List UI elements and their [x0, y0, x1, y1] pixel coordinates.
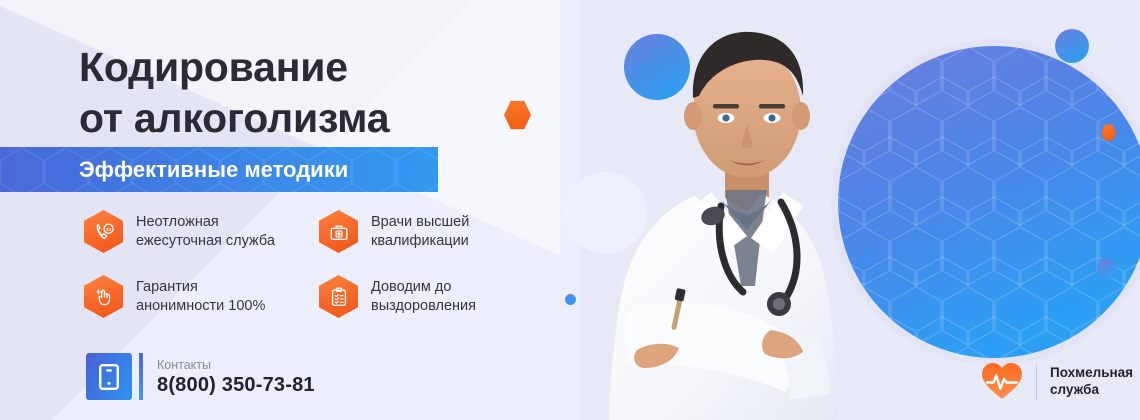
subtitle-badge-text: Эффективные методики: [79, 147, 348, 192]
contacts-block[interactable]: Контакты 8(800) 350-73-81: [86, 353, 315, 400]
big-blue-circle-decoration: [838, 46, 1140, 358]
feature-item-emergency-service: 24 Неотложная ежесуточная служба: [84, 210, 319, 253]
heart-pulse-icon: [981, 362, 1023, 400]
logo-line-2: служба: [1050, 382, 1099, 397]
clipboard-check-icon: [319, 275, 358, 318]
feature-line-2: анонимности 100%: [136, 298, 265, 314]
phone-24-icon: 24: [84, 210, 123, 253]
svg-text:24: 24: [105, 226, 111, 232]
contacts-divider: [139, 353, 143, 400]
feature-item-recovery: Доводим до выздоровления: [319, 275, 554, 318]
contacts-text: Контакты 8(800) 350-73-81: [157, 357, 315, 397]
hand-silence-icon: [84, 275, 123, 318]
features-row-1: 24 Неотложная ежесуточная служба: [84, 210, 554, 275]
feature-line-2: ежесуточная служба: [136, 233, 275, 249]
feature-line-1: Гарантия: [136, 279, 198, 295]
blue-circle-decoration-3: [1097, 258, 1117, 278]
feature-line-2: квалификации: [371, 233, 469, 249]
title-line-1: Кодирование: [79, 44, 348, 90]
features-list: 24 Неотложная ежесуточная служба: [84, 210, 554, 340]
logo-line-1: Похмельная: [1050, 365, 1133, 380]
feature-line-1: Доводим до: [371, 279, 451, 295]
feature-line-1: Врачи высшей: [371, 214, 469, 230]
title-line-2: от алкоголизма: [79, 93, 559, 144]
logo-divider: [1036, 363, 1037, 399]
feature-label: Доводим до выздоровления: [371, 278, 476, 316]
doctor-photo: [575, 0, 875, 420]
feature-line-1: Неотложная: [136, 214, 219, 230]
mobile-phone-icon: [86, 353, 132, 400]
contacts-phone-number[interactable]: 8(800) 350-73-81: [157, 373, 315, 397]
subtitle-badge-band: Эффективные методики: [0, 147, 438, 192]
features-row-2: Гарантия анонимности 100% Доводим до выз…: [84, 275, 554, 340]
feature-item-top-doctors: Врачи высшей квалификации: [319, 210, 554, 253]
first-aid-kit-icon: [319, 210, 358, 253]
feature-label: Гарантия анонимности 100%: [136, 278, 265, 316]
page-title: Кодирование от алкоголизма: [79, 42, 559, 144]
promo-banner: Кодирование от алкоголизма Эффективные м…: [0, 0, 1140, 420]
feature-label: Неотложная ежесуточная служба: [136, 213, 275, 251]
feature-label: Врачи высшей квалификации: [371, 213, 469, 251]
brand-logo[interactable]: Похмельная служба: [981, 362, 1133, 400]
logo-text: Похмельная служба: [1050, 364, 1133, 398]
contacts-label: Контакты: [157, 357, 315, 373]
blue-circle-decoration-2: [1055, 29, 1089, 63]
feature-item-anonymity: Гарантия анонимности 100%: [84, 275, 319, 318]
feature-line-2: выздоровления: [371, 298, 476, 314]
